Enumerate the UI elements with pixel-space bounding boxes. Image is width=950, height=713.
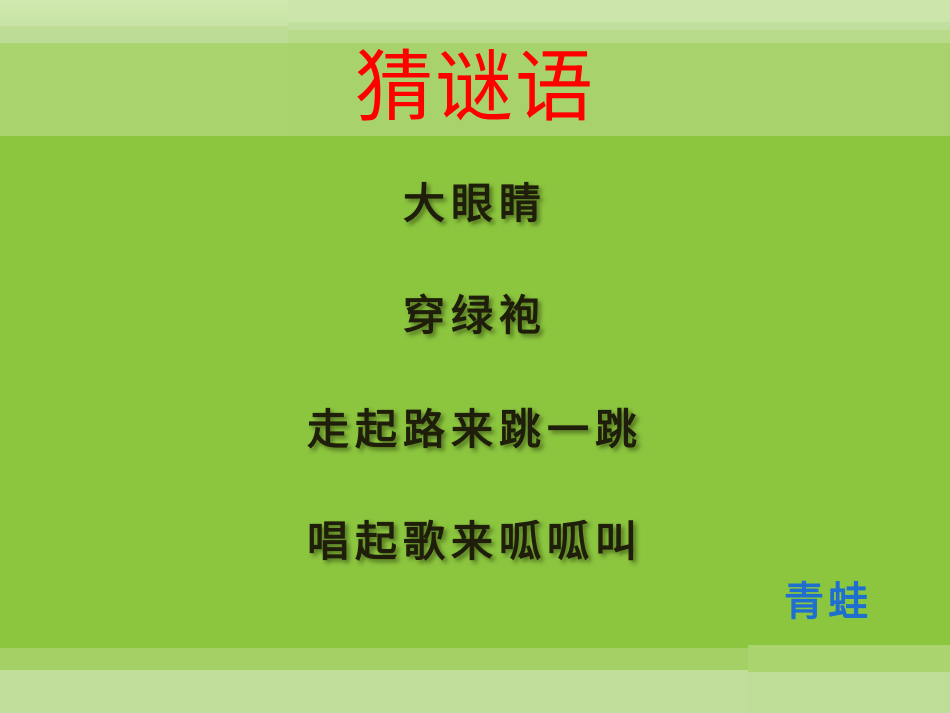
presentation-slide: 猜谜语 大眼睛 穿绿袍 走起路来跳一跳 唱起歌来呱呱叫 青蛙	[0, 0, 950, 713]
riddle-line-2: 穿绿袍	[0, 288, 950, 344]
decorative-band-bottom-light	[0, 670, 950, 713]
riddle-answer: 青蛙	[784, 578, 872, 626]
riddle-line-4: 唱起歌来呱呱叫	[0, 514, 950, 570]
riddle-text-block: 大眼睛 穿绿袍 走起路来跳一跳 唱起歌来呱呱叫	[0, 160, 950, 570]
decorative-band-top-seam	[288, 0, 950, 43]
decorative-band-bottom-seam	[748, 645, 950, 713]
decorative-band-bottom-medium	[0, 648, 950, 670]
riddle-line-1: 大眼睛	[0, 176, 950, 232]
riddle-line-3: 走起路来跳一跳	[0, 402, 950, 458]
decorative-band-top-light	[0, 0, 950, 26]
slide-title: 猜谜语	[0, 42, 950, 134]
decorative-band-top-light-2	[0, 26, 950, 43]
